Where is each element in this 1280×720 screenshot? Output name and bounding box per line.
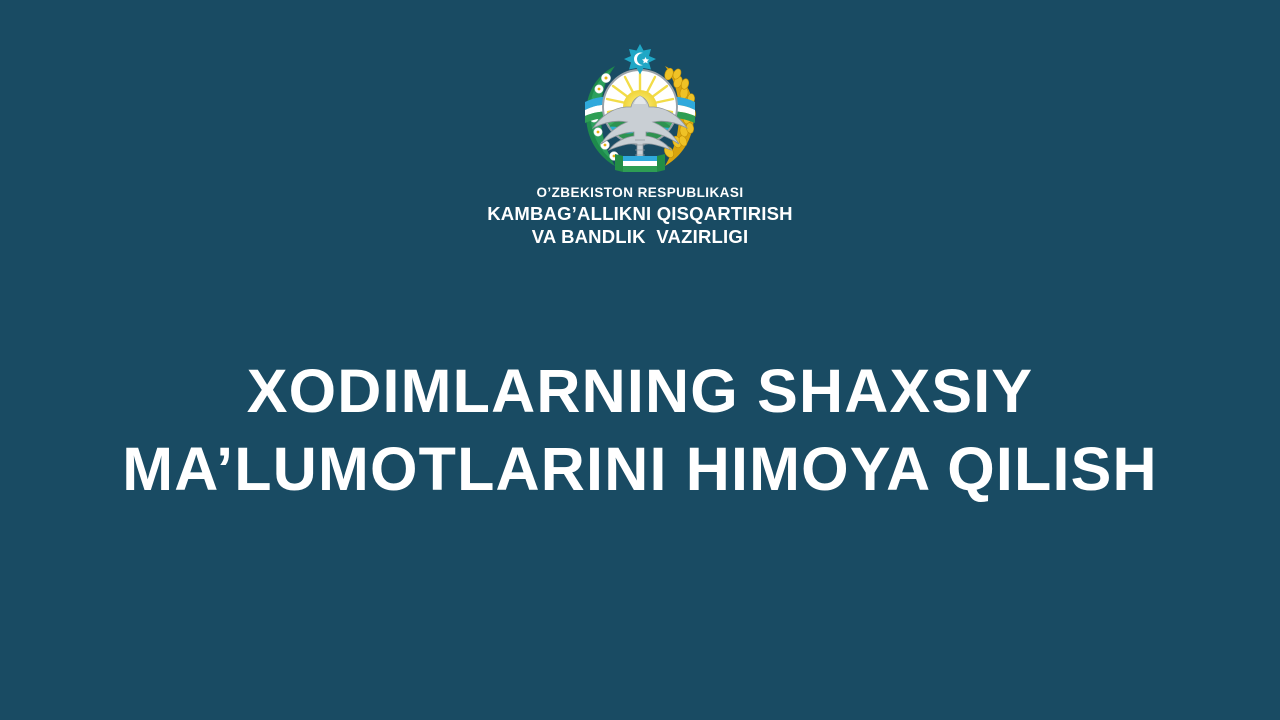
title-slide: O’ZBEKISTON RESPUBLIKASI KAMBAG’ALLIKNI … — [0, 0, 1280, 720]
uzbekistan-state-emblem-icon — [565, 44, 715, 178]
crescent-star-emblem-top — [624, 44, 656, 75]
slide-title-line-1: XODIMLARNING SHAXSIY — [0, 352, 1280, 430]
organization-line-2: KAMBAG’ALLIKNI QISQARTIRISH — [487, 204, 793, 224]
slide-title: XODIMLARNING SHAXSIY MA’LUMOTLARINI HIMO… — [0, 352, 1280, 508]
organization-line-3: VA BANDLIK VAZIRLIGI — [487, 227, 793, 247]
organization-line-1: O’ZBEKISTON RESPUBLIKASI — [487, 186, 793, 201]
organization-header: O’ZBEKISTON RESPUBLIKASI KAMBAG’ALLIKNI … — [0, 44, 1280, 247]
organization-name: O’ZBEKISTON RESPUBLIKASI KAMBAG’ALLIKNI … — [487, 186, 793, 247]
slide-title-line-2: MA’LUMOTLARINI HIMOYA QILISH — [0, 430, 1280, 508]
bottom-ribbon — [615, 154, 665, 172]
